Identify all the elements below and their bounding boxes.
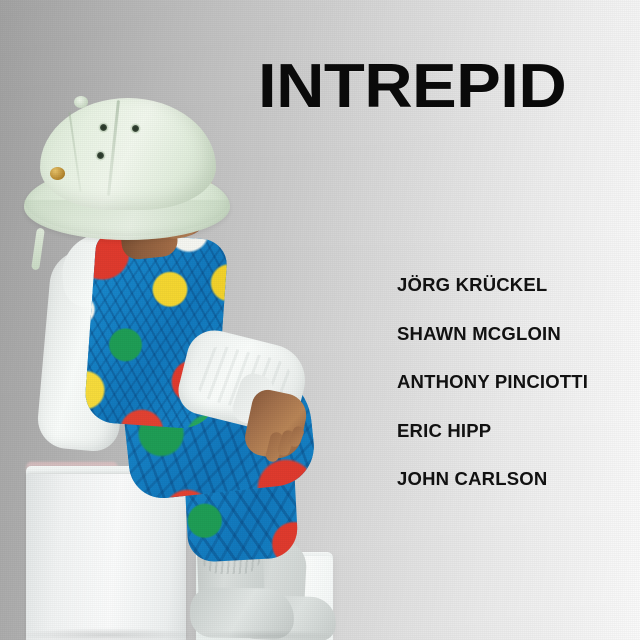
helmet-vent-grommet xyxy=(100,124,107,131)
credit-name: ANTHONY PINCIOTTI xyxy=(397,373,627,392)
credit-name: SHAWN MCGLOIN xyxy=(397,325,627,344)
contact-shadow-footrest xyxy=(190,630,340,640)
credit-name: ERIC HIPP xyxy=(397,422,627,441)
credits-list: JÖRG KRÜCKEL SHAWN MCGLOIN ANTHONY PINCI… xyxy=(397,276,627,489)
credit-name: JÖRG KRÜCKEL xyxy=(397,276,627,295)
helmet-brass-button xyxy=(50,167,65,180)
helmet-vent-grommet xyxy=(97,152,104,159)
helmet-vent-grommet xyxy=(132,125,139,132)
album-cover: INTREPID JÖRG KRÜCKEL SHAWN MCGLOIN ANTH… xyxy=(0,0,640,640)
speaker-cabinet xyxy=(26,474,186,640)
album-title: INTREPID xyxy=(258,56,566,118)
helmet-top-knob xyxy=(74,96,88,108)
helmet-crown xyxy=(40,98,216,210)
credit-name: JOHN CARLSON xyxy=(397,470,627,489)
contact-shadow-speaker xyxy=(18,628,198,640)
helmet-chin-strap xyxy=(31,228,45,271)
